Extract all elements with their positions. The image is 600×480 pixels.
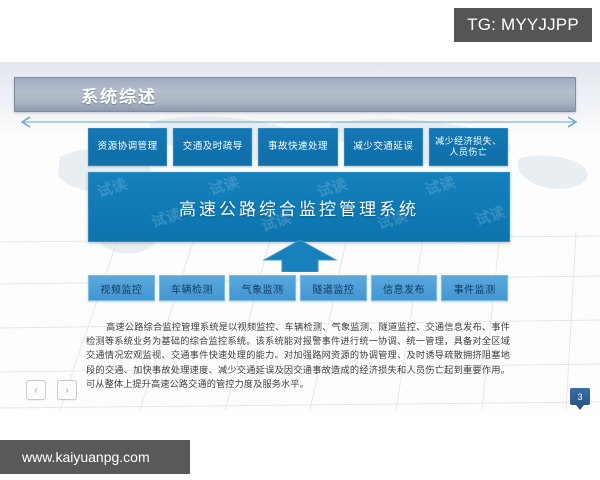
description-paragraph: 高速公路综合监控管理系统是以视频监控、车辆检测、气象监测、隧道监控、交通信息发布… xyxy=(86,320,510,391)
system-banner: 试读 试读 试读 试读 试读 试读 试读 试读 高速公路综合监控管理系统 xyxy=(88,172,510,242)
previous-page-button[interactable]: ‹ xyxy=(26,380,46,400)
slide-title: 系统综述 xyxy=(81,82,157,107)
page-number-badge: 3 xyxy=(570,388,590,405)
module-box[interactable]: 隧道监控 xyxy=(300,275,367,301)
footer-url-bar: www.kaiyuanpg.com xyxy=(0,440,190,474)
banner-watermark: 试读 xyxy=(422,172,457,200)
benefit-box[interactable]: 减少经济损失、人员伤亡 xyxy=(429,128,508,166)
banner-watermark: 试读 xyxy=(94,173,129,202)
benefit-box[interactable]: 事故快速处理 xyxy=(258,128,337,166)
system-banner-title: 高速公路综合监控管理系统 xyxy=(179,195,419,220)
module-box[interactable]: 视频监控 xyxy=(88,275,155,301)
banner-watermark: 试读 xyxy=(472,201,507,230)
slide-title-bar: 系统综述 xyxy=(14,77,576,112)
module-box[interactable]: 车辆检测 xyxy=(159,275,226,301)
benefit-box-row: 资源协调管理 交通及时疏导 事故快速处理 减少交通延误 减少经济损失、人员伤亡 xyxy=(88,128,508,166)
module-box-row: 视频监控 车辆检测 气象监测 隧道监控 信息发布 事件监测 xyxy=(88,275,508,301)
slide-canvas: 系统综述 资源协调管理 交通及时疏导 事故快速处理 减少交通延误 减少经济损失、… xyxy=(0,62,600,410)
module-box[interactable]: 气象监测 xyxy=(229,275,296,301)
next-page-button[interactable]: › xyxy=(57,380,77,400)
up-arrow-icon xyxy=(262,238,338,272)
module-box[interactable]: 事件监测 xyxy=(441,275,508,301)
benefit-box[interactable]: 减少交通延误 xyxy=(344,128,423,166)
benefit-box[interactable]: 资源协调管理 xyxy=(88,128,167,166)
benefit-box[interactable]: 交通及时疏导 xyxy=(173,128,252,166)
telegram-watermark-tag: TG: MYYJJPP xyxy=(454,8,592,42)
module-box[interactable]: 信息发布 xyxy=(371,275,438,301)
